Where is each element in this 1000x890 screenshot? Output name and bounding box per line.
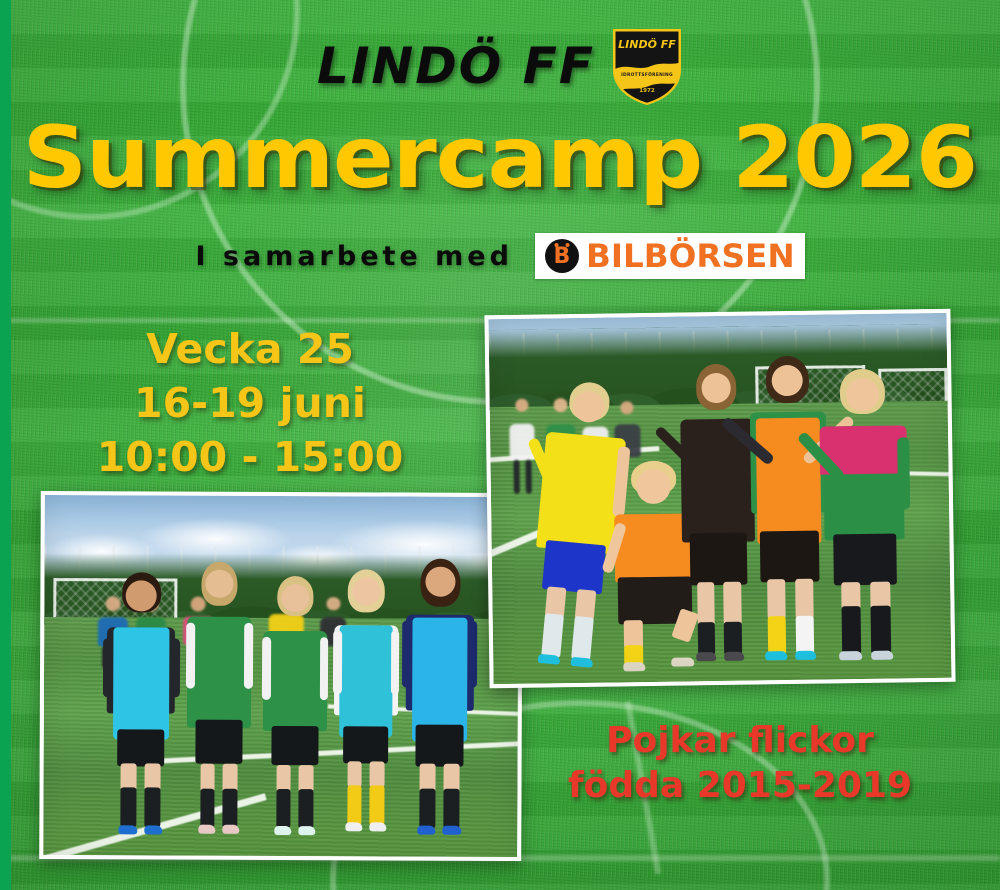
bilborsen-mark-letter: B [554, 246, 571, 268]
photo-boys-group [484, 309, 955, 688]
headline-text: Summercamp 2026 [23, 108, 977, 208]
info-dates: 16-19 juni [40, 376, 460, 430]
partner-prefix-text: I samarbete med [195, 241, 512, 272]
agegroup-block: Pojkar flickor födda 2015-2019 [520, 718, 960, 808]
photo-girls-group [39, 491, 523, 861]
svg-text:1972: 1972 [639, 88, 655, 94]
agegroup-line-1: Pojkar flickor [520, 718, 960, 763]
svg-text:LINDÖ FF: LINDÖ FF [618, 37, 676, 51]
partner-row: I samarbete med B BILBÖRSEN [0, 228, 1000, 284]
bilborsen-b-icon: B [545, 239, 579, 273]
info-week: Vecka 25 [40, 322, 460, 376]
agegroup-line-2: födda 2015-2019 [520, 763, 960, 808]
club-name: LINDÖ FF [317, 37, 595, 95]
umlaut-dots-icon [554, 243, 569, 247]
bilborsen-logo: B BILBÖRSEN [535, 233, 805, 279]
svg-text:IDROTTSFÖRENING: IDROTTSFÖRENING [621, 71, 673, 78]
camp-info-block: Vecka 25 16-19 juni 10:00 - 15:00 [40, 322, 460, 484]
poster-root: LINDÖ FF LINDÖ FF IDROTTSFÖRENING 1972 [0, 0, 1000, 890]
info-times: 10:00 - 15:00 [40, 430, 460, 484]
lindo-ff-shield-logo: LINDÖ FF IDROTTSFÖRENING 1972 [611, 26, 683, 106]
bilborsen-wordmark: BILBÖRSEN [586, 240, 795, 272]
left-green-rail [0, 0, 11, 890]
club-header: LINDÖ FF LINDÖ FF IDROTTSFÖRENING 1972 [0, 30, 1000, 102]
headline: Summercamp 2026 [0, 108, 1000, 208]
